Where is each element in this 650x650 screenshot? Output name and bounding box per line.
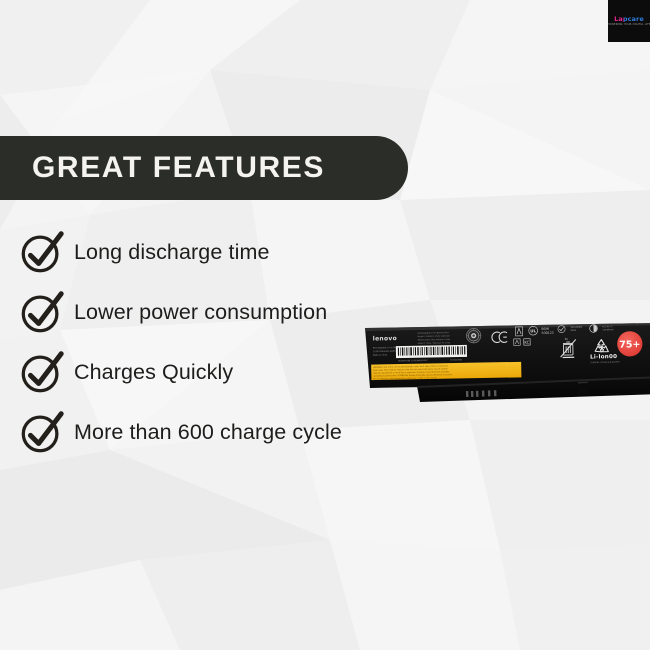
svg-text:11S0C52861: 11S0C52861 (450, 359, 463, 361)
svg-text:Made in China: Made in China (373, 354, 388, 356)
svg-text:KC: KC (524, 340, 529, 345)
svg-text:Model: L11S6F01 10.8V 5200m: Model: L11S6F01 10.8V 5200mAh (418, 335, 451, 339)
svg-text:EU: EU (565, 338, 569, 341)
list-item-label: Lower power consumption (74, 300, 327, 325)
svg-text:R3D123: R3D123 (542, 331, 554, 335)
svg-text:FCC ID / IC: FCC ID / IC (602, 326, 613, 328)
brand-logo-tagline: POWERING YOUR DIGITAL LIFE (608, 24, 650, 27)
headline-banner: GREAT FEATURES (0, 136, 408, 200)
svg-text:UL: UL (530, 328, 536, 333)
list-item-label: More than 600 charge cycle (74, 420, 342, 445)
list-item: Long discharge time (18, 228, 438, 276)
svg-text:Made in China / Fabrique en Ch: Made in China / Fabrique en Chine (418, 341, 451, 345)
list-item-label: Charges Quickly (74, 360, 233, 385)
svg-text:RoHS: RoHS (571, 330, 577, 332)
brand-logo-name: Lapcare (608, 16, 650, 23)
svg-text:Rechargeable Li-ion Battery Pa: Rechargeable Li-ion Battery Pack (418, 331, 450, 335)
check-circle-icon (18, 288, 66, 336)
check-circle-icon (18, 228, 66, 276)
svg-text:Li-Ion00: Li-Ion00 (590, 354, 617, 360)
product-image-battery: lenovo Rechargeable Li-ion Battery Pack … (362, 322, 650, 404)
svg-text:Battery Pack / Bloc-batterie /: Battery Pack / Bloc-batterie / Akku (418, 338, 451, 342)
svg-text:75+: 75+ (619, 339, 640, 350)
check-circle-icon (18, 408, 66, 456)
svg-text:10.8V 5200mAh 62Wh: 10.8V 5200mAh 62Wh (373, 350, 396, 353)
svg-text:Compliance: Compliance (603, 329, 615, 331)
promo-graphic: Lapcare POWERING YOUR DIGITAL LIFE GREAT… (0, 0, 650, 650)
list-item-label: Long discharge time (74, 240, 270, 265)
brand-logo-badge: Lapcare POWERING YOUR DIGITAL LIFE (608, 0, 650, 42)
svg-text:2011/65/EU: 2011/65/EU (570, 327, 582, 329)
svg-text:lenovo: lenovo (373, 335, 397, 342)
page-title: GREAT FEATURES (32, 151, 325, 185)
svg-text:CONTAINS LITHIUM ION BATTERY: CONTAINS LITHIUM ION BATTERY (590, 361, 620, 365)
list-item: More than 600 charge cycle (18, 408, 438, 456)
check-circle-icon (18, 348, 66, 396)
